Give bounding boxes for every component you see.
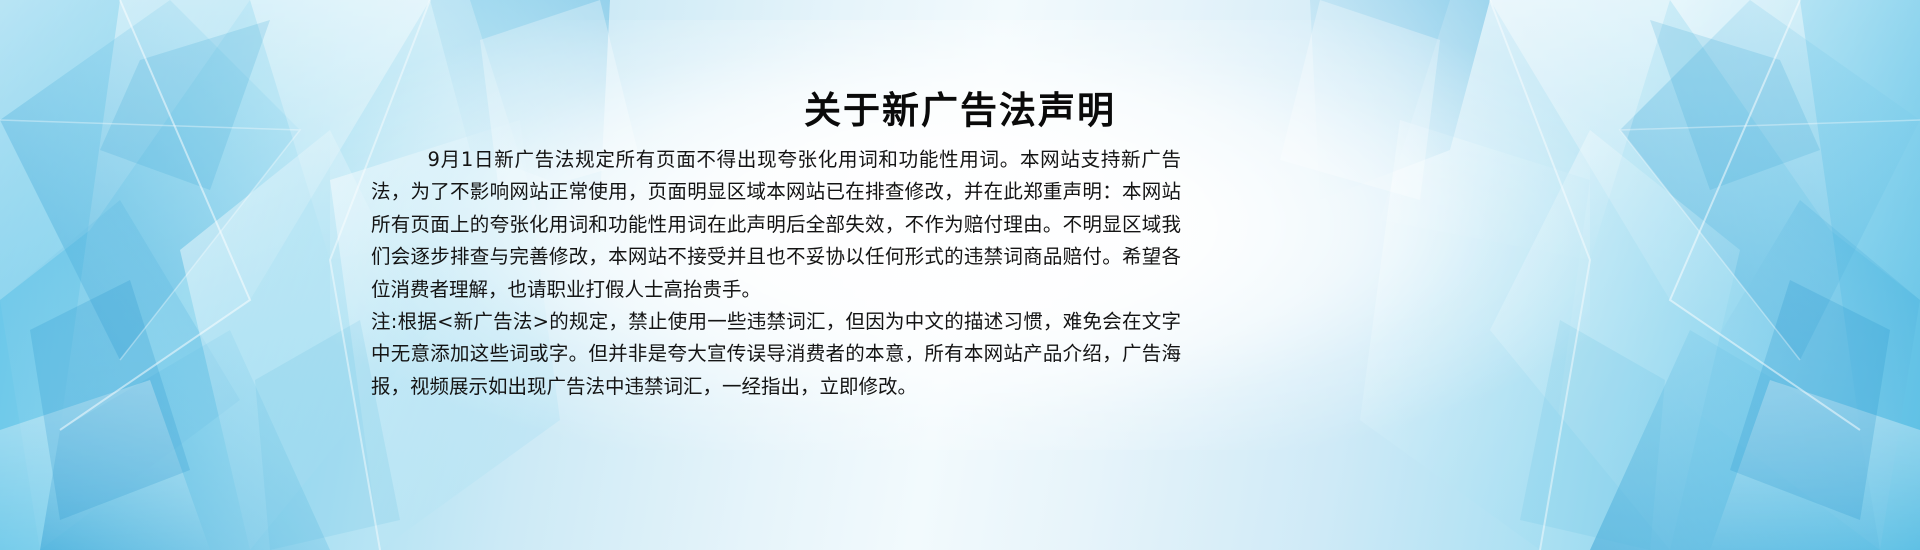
- statement-paragraph-main: 9月1日新广告法规定所有页面不得出现夸张化用词和功能性用词。本网站支持新广告法，…: [371, 144, 1181, 306]
- page-title: 关于新广告法声明: [0, 86, 1920, 136]
- advertising-law-banner: 关于新广告法声明 9月1日新广告法规定所有页面不得出现夸张化用词和功能性用词。本…: [0, 0, 1920, 550]
- statement-paragraph-note: 注:根据<新广告法>的规定，禁止使用一些违禁词汇，但因为中文的描述习惯，难免会在…: [371, 306, 1181, 403]
- statement-body: 9月1日新广告法规定所有页面不得出现夸张化用词和功能性用词。本网站支持新广告法，…: [371, 144, 1181, 403]
- statement-content: 关于新广告法声明 9月1日新广告法规定所有页面不得出现夸张化用词和功能性用词。本…: [0, 0, 1920, 550]
